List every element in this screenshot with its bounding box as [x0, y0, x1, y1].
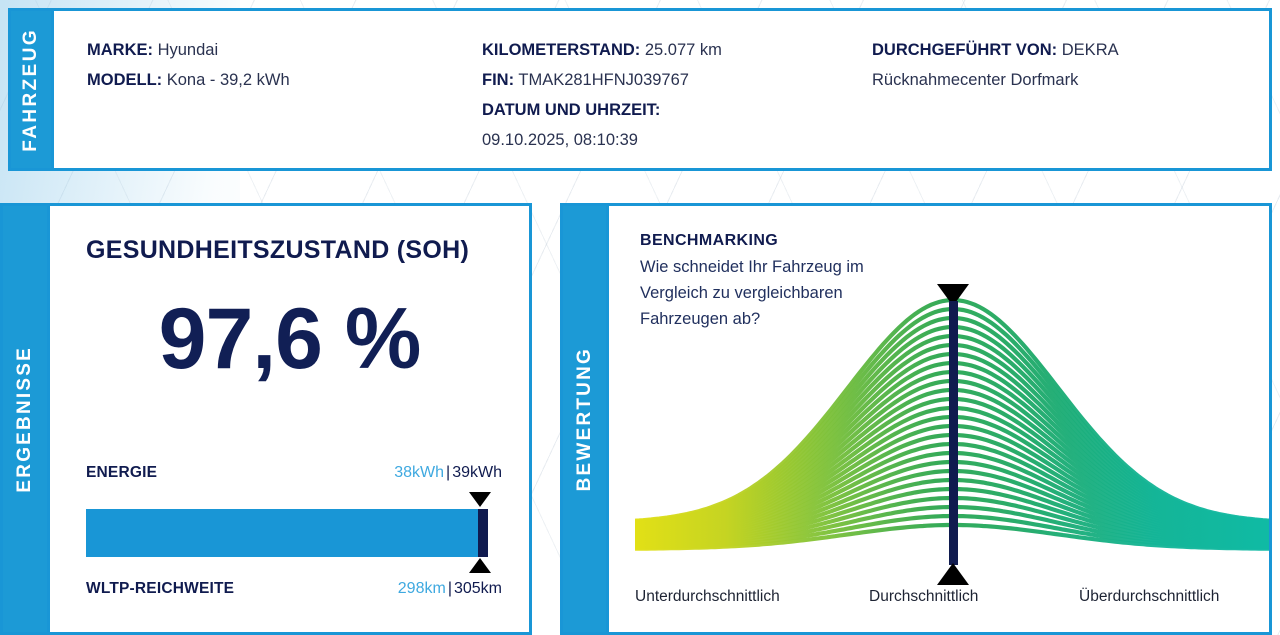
- results-card: ERGEBNISSE GESUNDHEITSZUSTAND (SOH) 97,6…: [0, 203, 532, 635]
- vehicle-field-inspector-location: Rücknahmecenter Dorfmark: [872, 65, 1119, 95]
- range-label: WLTP-REICHWEITE: [86, 580, 234, 598]
- benchmark-card: BEWERTUNG BENCHMARKING Wie schneidet Ihr…: [560, 203, 1272, 635]
- vehicle-field-marke-key: MARKE:: [87, 41, 153, 59]
- vehicle-card-body: MARKE: Hyundai MODELL: Kona - 39,2 kWh K…: [51, 11, 1269, 168]
- vehicle-field-marke-value: Hyundai: [158, 41, 219, 59]
- soh-value: 97,6 %: [50, 296, 529, 382]
- soh-progress-fill: [86, 509, 478, 557]
- vehicle-field-fin: FIN: TMAK281HFNJ039767: [482, 65, 722, 95]
- vehicle-field-marke: MARKE: Hyundai: [87, 35, 290, 65]
- vehicle-field-fin-key: FIN:: [482, 71, 514, 89]
- soh-progress-bar: [86, 509, 502, 557]
- benchmark-axis-label-low: Unterdurchschnittlich: [635, 588, 780, 606]
- vehicle-field-durchgefuehrt-key: DURCHGEFÜHRT VON:: [872, 41, 1057, 59]
- vehicle-field-kilometerstand: KILOMETERSTAND: 25.077 km: [482, 35, 722, 65]
- vehicle-field-modell-key: MODELL:: [87, 71, 162, 89]
- vehicle-column-identity: MARKE: Hyundai MODELL: Kona - 39,2 kWh: [87, 35, 290, 95]
- range-actual-value: 298km: [398, 580, 446, 597]
- energy-values: 38kWh|39kWh: [394, 464, 502, 482]
- vehicle-field-kilometerstand-key: KILOMETERSTAND:: [482, 41, 640, 59]
- vehicle-field-datum-key: DATUM UND UHRZEIT:: [482, 101, 660, 119]
- range-marker-up-triangle-icon: [469, 558, 491, 573]
- vehicle-field-kilometerstand-value: 25.077 km: [645, 41, 722, 59]
- range-nominal-value: 305km: [454, 580, 502, 597]
- results-tab-label: ERGEBNISSE: [14, 346, 36, 493]
- benchmark-card-body: BENCHMARKING Wie schneidet Ihr Fahrzeug …: [606, 206, 1269, 632]
- vehicle-field-fin-value: TMAK281HFNJ039767: [518, 71, 689, 89]
- energy-actual-value: 38kWh: [394, 464, 444, 481]
- benchmark-marker-up-triangle-icon: [937, 563, 969, 585]
- benchmark-text-block: BENCHMARKING Wie schneidet Ihr Fahrzeug …: [640, 232, 880, 332]
- vehicle-tab: FAHRZEUG: [11, 11, 51, 168]
- benchmark-question: Wie schneidet Ihr Fahrzeug im Vergleich …: [640, 254, 880, 332]
- range-metric-row: WLTP-REICHWEITE 298km|305km: [86, 580, 502, 598]
- range-separator: |: [446, 580, 454, 597]
- range-values: 298km|305km: [398, 580, 502, 598]
- vehicle-column-data: KILOMETERSTAND: 25.077 km FIN: TMAK281HF…: [482, 35, 722, 155]
- vehicle-field-modell-value: Kona - 39,2 kWh: [167, 71, 290, 89]
- benchmark-heading: BENCHMARKING: [640, 232, 880, 250]
- energy-metric-row: ENERGIE 38kWh|39kWh: [86, 464, 502, 482]
- benchmark-tab: BEWERTUNG: [563, 206, 606, 632]
- vehicle-field-durchgefuehrt: DURCHGEFÜHRT VON: DEKRA: [872, 35, 1119, 65]
- energy-separator: |: [444, 464, 452, 481]
- vehicle-column-inspector: DURCHGEFÜHRT VON: DEKRA Rücknahmecenter …: [872, 35, 1119, 95]
- benchmark-axis-label-mid: Durchschnittlich: [869, 588, 978, 606]
- vehicle-tab-label: FAHRZEUG: [20, 28, 42, 152]
- benchmark-marker-line: [949, 301, 958, 565]
- soh-title: GESUNDHEITSZUSTAND (SOH): [86, 236, 469, 265]
- benchmark-tab-label: BEWERTUNG: [574, 347, 596, 491]
- results-card-body: GESUNDHEITSZUSTAND (SOH) 97,6 % ENERGIE …: [47, 206, 529, 632]
- energy-label: ENERGIE: [86, 464, 157, 482]
- vehicle-field-datum-value: 09.10.2025, 08:10:39: [482, 125, 722, 155]
- vehicle-field-datum: DATUM UND UHRZEIT:: [482, 95, 722, 125]
- benchmark-axis-label-high: Überdurchschnittlich: [1079, 588, 1219, 606]
- energy-nominal-value: 39kWh: [452, 464, 502, 481]
- vehicle-info-card: FAHRZEUG MARKE: Hyundai MODELL: Kona - 3…: [8, 8, 1272, 171]
- energy-marker-down-triangle-icon: [469, 492, 491, 507]
- vehicle-field-durchgefuehrt-value: DEKRA: [1062, 41, 1119, 59]
- results-tab: ERGEBNISSE: [3, 206, 47, 632]
- soh-progress-cap: [478, 509, 488, 557]
- vehicle-field-modell: MODELL: Kona - 39,2 kWh: [87, 65, 290, 95]
